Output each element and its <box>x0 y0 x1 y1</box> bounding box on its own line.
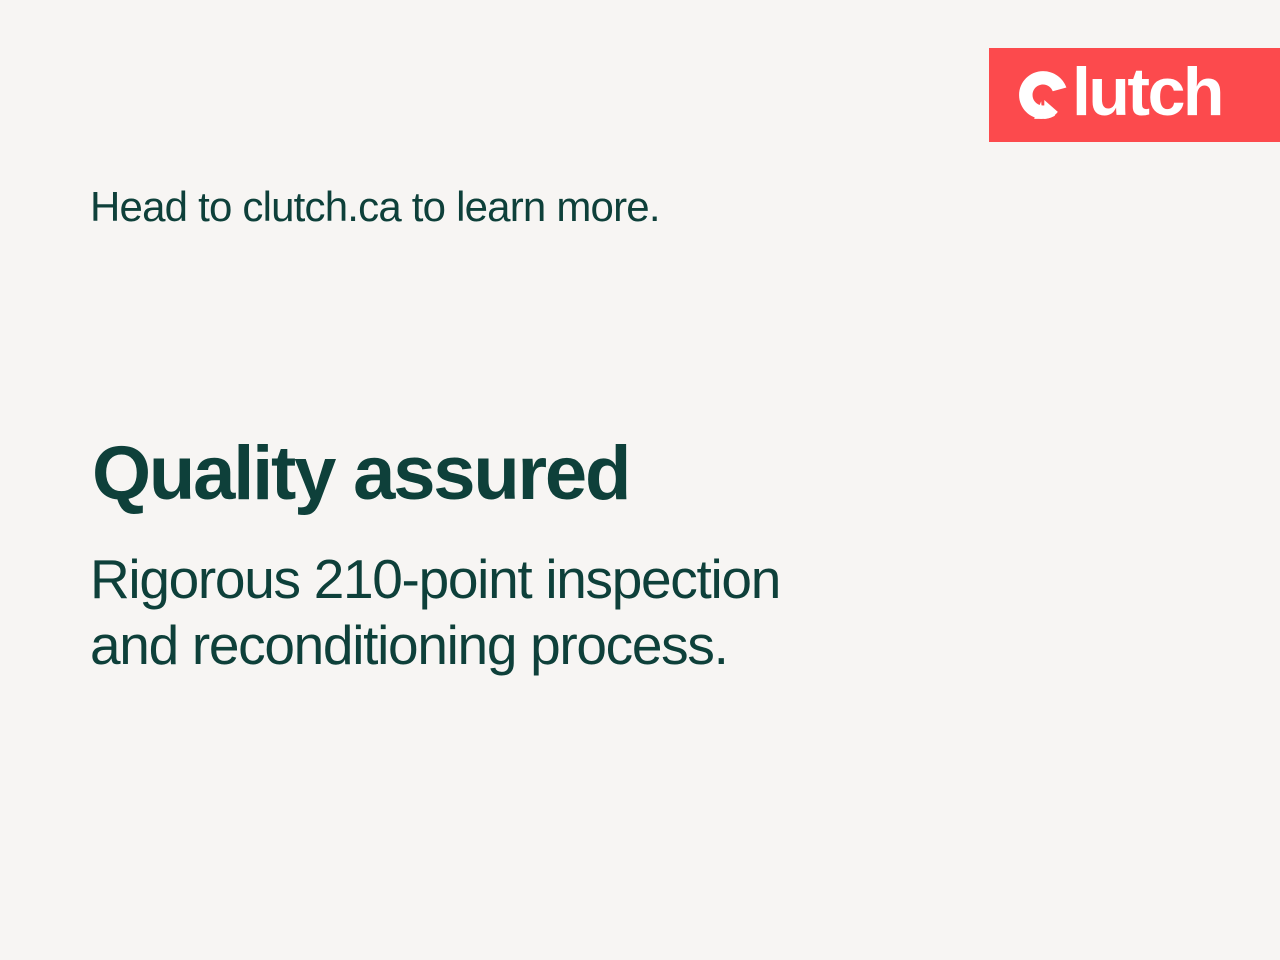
page-title: Quality assured <box>92 434 629 514</box>
promo-slide: lutch Head to clutch.ca to learn more. Q… <box>0 0 1280 960</box>
kicker-text: Head to clutch.ca to learn more. <box>90 183 660 231</box>
clutch-logo-block[interactable]: lutch <box>989 48 1280 142</box>
subhead-line-1: Rigorous 210-point inspection <box>90 546 780 612</box>
subhead-line-2: and reconditioning process. <box>90 612 780 678</box>
clutch-wordmark: lutch <box>1017 48 1222 142</box>
subhead-text: Rigorous 210-point inspection and recond… <box>90 546 780 678</box>
clutch-wordmark-text: lutch <box>1072 58 1222 126</box>
clutch-c-mark-icon <box>1017 69 1069 121</box>
